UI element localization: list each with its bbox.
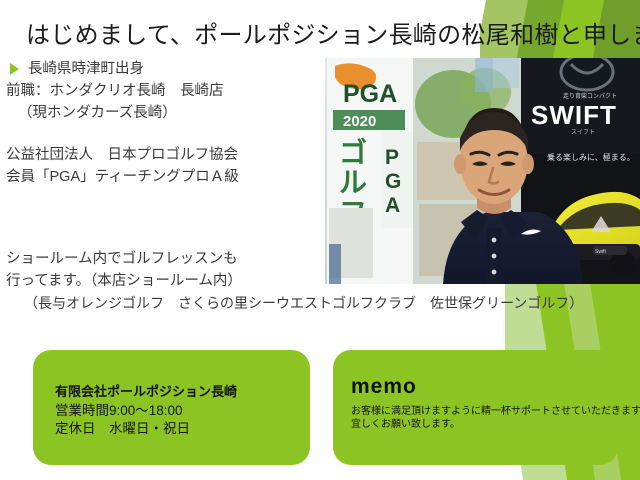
lesson-line-3: （長与オレンジゴルフ さくらの里シーウエストゴルフクラブ 佐世保グリーンゴルフ） [6, 292, 640, 314]
svg-text:ゴ: ゴ [339, 136, 367, 168]
membership-text: 会員「PGA」ティーチングプロＡ級 [6, 166, 326, 188]
svg-text:走り育柴コンパクト: 走り育柴コンパクト [563, 92, 617, 100]
profile-text-block: 長崎県時津町出身 前職：ホンダクリオ長崎 長崎店 （現ホンダカーズ長崎） 公益社… [6, 58, 326, 188]
spacer [6, 124, 326, 144]
svg-text:PGA: PGA [343, 80, 397, 108]
hometown-row: 長崎県時津町出身 [6, 58, 326, 80]
memo-title: memo [351, 375, 417, 399]
svg-text:A: A [385, 194, 400, 217]
svg-text:スイフト: スイフト [571, 129, 595, 136]
svg-text:乗る楽しみに、極まる。: 乗る楽しみに、極まる。 [547, 152, 635, 162]
previous-job-text: 前職：ホンダクリオ長崎 長崎店 [6, 80, 326, 102]
hometown-text: 長崎県時津町出身 [28, 58, 144, 80]
svg-text:P: P [385, 146, 399, 169]
lesson-text-block: ショールーム内でゴルフレッスンも 行ってます。（本店ショールーム内） （長与オレ… [6, 248, 640, 314]
memo-line-2: 宜しくお願い致します。 [351, 415, 460, 430]
svg-text:2020: 2020 [343, 113, 376, 130]
company-name: 有限会社ポールポジション長崎 [55, 381, 237, 400]
lesson-line-1: ショールーム内でゴルフレッスンも [6, 248, 640, 270]
page-title: はじめまして、ポールポジション長崎の松尾和樹と申します。 [26, 20, 640, 52]
association-text: 公益社団法人 日本プロゴルフ協会 [6, 144, 326, 166]
triangle-bullet-icon [10, 63, 19, 75]
svg-text:SWIFT: SWIFT [531, 100, 617, 130]
svg-text:ル: ル [339, 167, 367, 198]
company-holiday: 定休日 水曜日・祝日 [55, 417, 190, 437]
company-info-card: 有限会社ポールポジション長崎 営業時間9:00〜18:00 定休日 水曜日・祝日 [33, 350, 310, 465]
company-hours: 営業時間9:00〜18:00 [55, 399, 183, 419]
svg-text:G: G [385, 170, 401, 193]
previous-job-note-text: （現ホンダカーズ長崎） [6, 102, 326, 124]
memo-card: memo お客様に満足頂けますように精一杯サポートさせていただきます。 宜しくお… [333, 350, 618, 465]
lesson-line-2: 行ってます。（本店ショールーム内） [6, 270, 640, 292]
slide-canvas: はじめまして、ポールポジション長崎の松尾和樹と申します。 長崎県時津町出身 前職… [0, 0, 640, 480]
